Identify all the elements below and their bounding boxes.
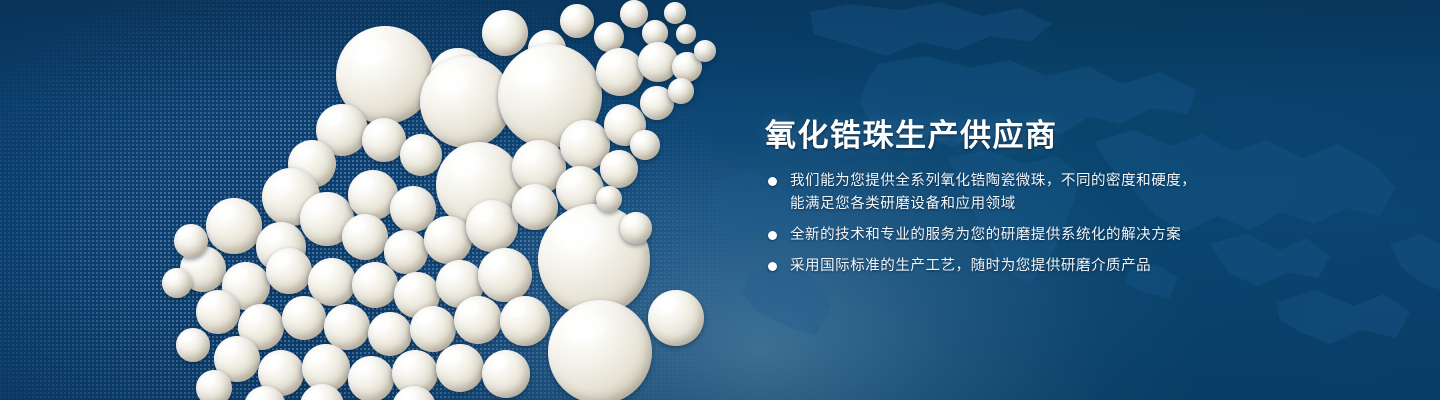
list-item-line2: 能满足您各类研磨设备和应用领域 bbox=[790, 193, 1196, 216]
hero-banner: 氧化锆珠生产供应商 我们能为您提供全系列氧化锆陶瓷微珠，不同的密度和硬度， 能满… bbox=[0, 0, 1440, 400]
bullet-dot-icon bbox=[768, 177, 777, 186]
list-item-line1: 全新的技术和专业的服务为您的研磨提供系统化的解决方案 bbox=[790, 227, 1181, 243]
banner-content: 氧化锆珠生产供应商 我们能为您提供全系列氧化锆陶瓷微珠，不同的密度和硬度， 能满… bbox=[765, 0, 1385, 400]
page-title: 氧化锆珠生产供应商 bbox=[765, 110, 1058, 155]
list-item-text: 我们能为您提供全系列氧化锆陶瓷微珠，不同的密度和硬度， 能满足您各类研磨设备和应… bbox=[790, 170, 1196, 216]
list-item-line1: 采用国际标准的生产工艺，随时为您提供研磨介质产品 bbox=[790, 258, 1151, 274]
zirconia-beads-image bbox=[0, 0, 780, 400]
feature-list: 我们能为您提供全系列氧化锆陶瓷微珠，不同的密度和硬度， 能满足您各类研磨设备和应… bbox=[768, 170, 1378, 286]
bullet-dot-icon bbox=[768, 231, 777, 240]
list-item: 全新的技术和专业的服务为您的研磨提供系统化的解决方案 bbox=[768, 224, 1378, 247]
list-item-text: 全新的技术和专业的服务为您的研磨提供系统化的解决方案 bbox=[790, 224, 1181, 247]
list-item: 我们能为您提供全系列氧化锆陶瓷微珠，不同的密度和硬度， 能满足您各类研磨设备和应… bbox=[768, 170, 1378, 216]
list-item: 采用国际标准的生产工艺，随时为您提供研磨介质产品 bbox=[768, 255, 1378, 278]
list-item-line1: 我们能为您提供全系列氧化锆陶瓷微珠，不同的密度和硬度， bbox=[790, 173, 1196, 189]
bullet-dot-icon bbox=[768, 262, 777, 271]
list-item-text: 采用国际标准的生产工艺，随时为您提供研磨介质产品 bbox=[790, 255, 1151, 278]
